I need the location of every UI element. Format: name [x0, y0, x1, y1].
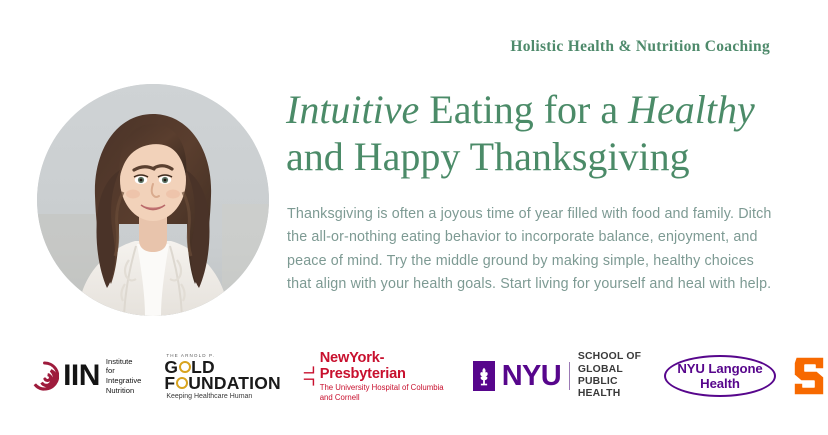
- nyu-school-line-1: SCHOOL OF GLOBAL: [578, 351, 654, 376]
- langone-text-block: NYU Langone Health: [672, 358, 768, 395]
- foundation-ring-icon: [176, 377, 188, 389]
- iin-spiral-icon: [30, 361, 59, 391]
- syracuse-block-s-icon: [790, 355, 828, 397]
- iin-word-line-3: Nutrition: [106, 386, 142, 396]
- partner-logo-bar: IIN Institute for Integrative Nutrition …: [0, 345, 828, 407]
- page-title-line-1: Intuitive Eating for a Healthy: [286, 86, 786, 133]
- nyp-name: NewYork-Presbyterian: [320, 350, 453, 382]
- logo-gold-foundation: THE ARNOLD P. GLD FUNDATION Keeping Heal…: [164, 353, 281, 400]
- langone-line-2: Health: [672, 376, 768, 392]
- iin-word-line-2: Integrative: [106, 376, 142, 386]
- nyu-school-name: SCHOOL OF GLOBAL PUBLIC HEALTH: [578, 351, 654, 401]
- gold-foundation-tagline: Keeping Healthcare Human: [166, 393, 252, 400]
- foundation-letters-undation: UNDATION: [188, 375, 281, 391]
- foundation-letter-f: F: [164, 375, 175, 391]
- page-title-emphasis-healthy: Healthy: [628, 87, 755, 132]
- page-body-paragraph: Thanksgiving is often a joyous time of y…: [287, 203, 773, 297]
- portrait-illustration: [37, 84, 269, 316]
- langone-line-1: NYU Langone: [672, 361, 768, 377]
- nyp-text-block: NewYork-Presbyterian The University Hosp…: [320, 350, 453, 403]
- logo-newyork-presbyterian: NewYork-Presbyterian The University Hosp…: [303, 350, 453, 403]
- nyu-torch-badge: [473, 361, 495, 391]
- slide-canvas: Holistic Health & Nutrition Coaching: [0, 0, 828, 435]
- logo-nyu-school-of-global-public-health: NYU SCHOOL OF GLOBAL PUBLIC HEALTH: [473, 351, 654, 401]
- page-eyebrow-heading: Holistic Health & Nutrition Coaching: [510, 38, 770, 56]
- iin-word-line-1: Institute for: [106, 357, 142, 376]
- nyp-bracket-icon: [303, 362, 316, 390]
- logo-syracuse-university: [790, 355, 828, 397]
- nyu-divider: [569, 362, 570, 390]
- logo-nyu-langone-health: NYU Langone Health: [672, 358, 768, 395]
- iin-wordmark: Institute for Integrative Nutrition: [106, 357, 142, 395]
- gold-foundation-word-foundation: FUNDATION: [164, 375, 281, 391]
- speaker-portrait-avatar: [37, 84, 269, 316]
- nyp-tagline: The University Hospital of Columbia and …: [320, 383, 453, 403]
- torch-icon: [473, 365, 495, 387]
- nyu-school-line-2: PUBLIC HEALTH: [578, 376, 654, 401]
- nyu-letters: NYU: [502, 362, 561, 391]
- page-title-line-2: and Happy Thanksgiving: [286, 133, 786, 180]
- logo-iin: IIN Institute for Integrative Nutrition: [30, 357, 142, 395]
- page-title: Intuitive Eating for a Healthy and Happy…: [286, 86, 786, 180]
- gold-ring-icon: [179, 361, 191, 373]
- page-title-roman-1: Eating for a: [419, 87, 628, 132]
- iin-letters: IIN: [63, 361, 100, 391]
- page-title-emphasis-intuitive: Intuitive: [286, 87, 419, 132]
